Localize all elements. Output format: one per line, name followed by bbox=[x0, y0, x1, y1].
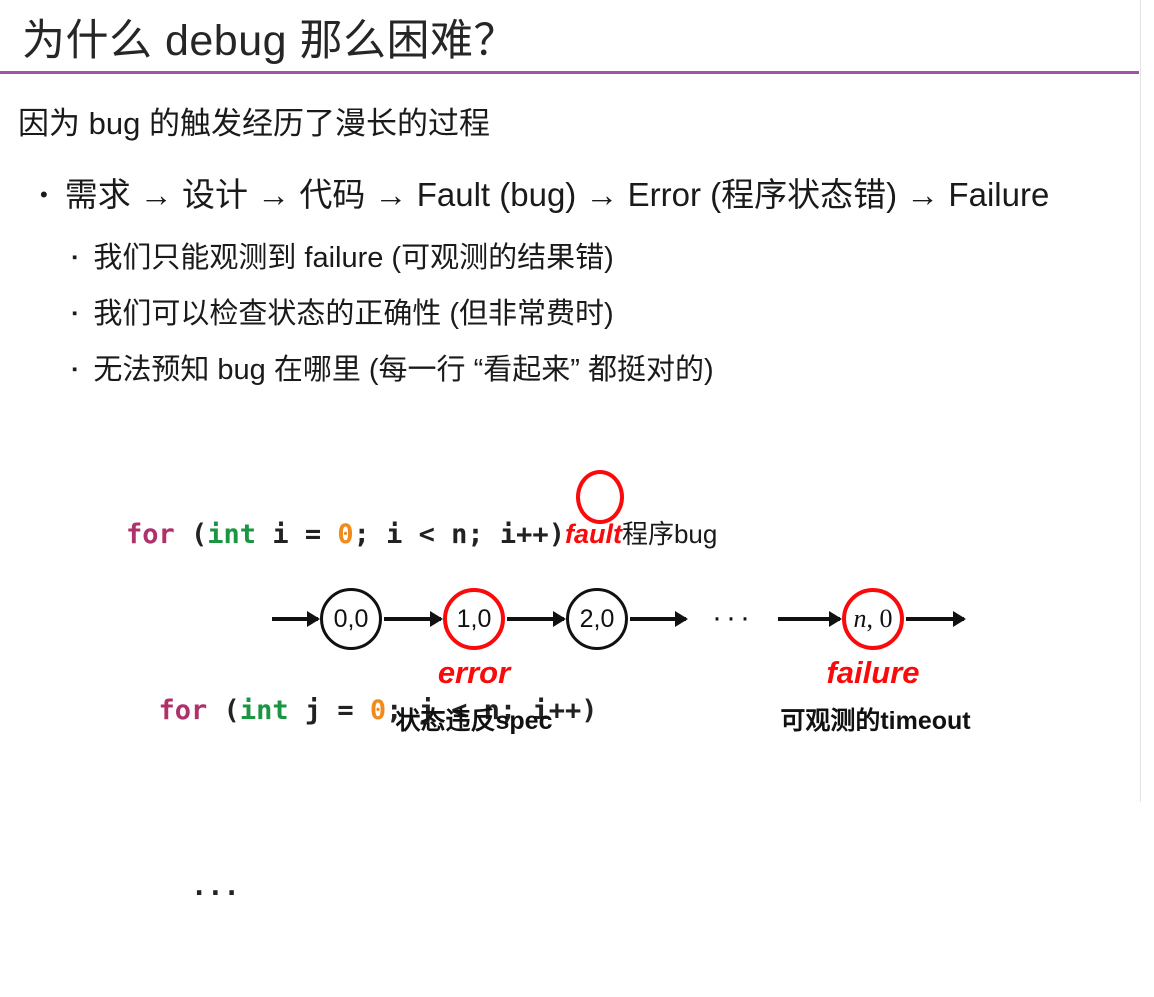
arrow-exit-icon bbox=[906, 617, 964, 621]
page-title: 为什么 debug 那么困难？ bbox=[22, 6, 517, 68]
code-expr: i = bbox=[256, 519, 337, 550]
error-annotation-label: error bbox=[398, 655, 550, 691]
state-node-1-0: 1,0 bbox=[443, 588, 505, 650]
fault-annotation-note: 程序bug bbox=[622, 519, 717, 549]
bullet-level2-2: ▪ 我们可以检查状态的正确性 (但非常费时) bbox=[72, 290, 614, 332]
state-node-2-0: 2,0 bbox=[566, 588, 628, 650]
bullet-level1: • 需求 → 设计 → 代码 → Fault (bug) → Error (程序… bbox=[40, 168, 1049, 216]
lead-paragraph: 因为 bug 的触发经历了漫长的过程 bbox=[18, 98, 490, 143]
code-number-zero: 0 bbox=[337, 519, 353, 550]
bullet-square-icon: ▪ bbox=[72, 362, 77, 377]
failure-annotation-caption: 可观测的timeout bbox=[768, 701, 983, 737]
title-divider bbox=[0, 71, 1139, 74]
failure-annotation-label: failure bbox=[792, 655, 954, 691]
state-diagram: 0,0 1,0 2,0 ··· n, 0 error 状态违反spec fail… bbox=[0, 575, 1141, 755]
arrow-2-to-ellipsis-icon bbox=[630, 617, 686, 621]
fault-annotation-label: fault bbox=[565, 519, 622, 549]
state-node-1-0-label: 1,0 bbox=[457, 605, 492, 634]
arrow-0-to-1-icon bbox=[384, 617, 441, 621]
bullet-level1-text: 需求 → 设计 → 代码 → Fault (bug) → Error (程序状态… bbox=[65, 168, 1050, 216]
state-node-0-0: 0,0 bbox=[320, 588, 382, 650]
code-keyword-for: for bbox=[126, 519, 175, 550]
bullet-level2-2-text: 我们可以检查状态的正确性 (但非常费时) bbox=[93, 290, 613, 332]
arrow-ellipsis-to-n-icon bbox=[778, 617, 840, 621]
error-annotation-caption: 状态违反spec bbox=[374, 701, 574, 737]
state-node-n-0-var: n bbox=[854, 604, 867, 634]
slide-canvas: 为什么 debug 那么困难？ 因为 bug 的触发经历了漫长的过程 • 需求 … bbox=[0, 0, 1141, 802]
bullet-level2-1-text: 我们只能观测到 failure (可观测的结果错) bbox=[93, 234, 613, 276]
code-expr-tail: ; i < n; i++) bbox=[354, 519, 565, 550]
state-node-n-0-rest: , 0 bbox=[867, 604, 893, 634]
code-line-1: for (int i = 0; i < n; i++)fault程序bug bbox=[126, 512, 717, 557]
state-node-0-0-label: 0,0 bbox=[334, 605, 369, 634]
bullet-dot-icon: • bbox=[40, 184, 48, 206]
state-node-n-0: n, 0 bbox=[842, 588, 904, 650]
code-type-int: int bbox=[207, 519, 256, 550]
arrow-1-to-2-icon bbox=[507, 617, 564, 621]
arrow-entry-icon bbox=[272, 617, 318, 621]
bullet-level2-3-text: 无法预知 bug 在哪里 (每一行 “看起来” 都挺对的) bbox=[93, 346, 713, 388]
state-node-2-0-label: 2,0 bbox=[580, 605, 615, 634]
code-punct: ( bbox=[175, 519, 208, 550]
diagram-ellipsis: ··· bbox=[712, 601, 754, 635]
bullet-level2-1: ▪ 我们只能观测到 failure (可观测的结果错) bbox=[72, 234, 614, 276]
bullet-square-icon: ▪ bbox=[72, 306, 77, 321]
bullet-level2-3: ▪ 无法预知 bug 在哪里 (每一行 “看起来” 都挺对的) bbox=[72, 346, 714, 388]
bullet-square-icon: ▪ bbox=[72, 250, 77, 265]
code-line-3-ellipsis: ... bbox=[126, 865, 717, 909]
